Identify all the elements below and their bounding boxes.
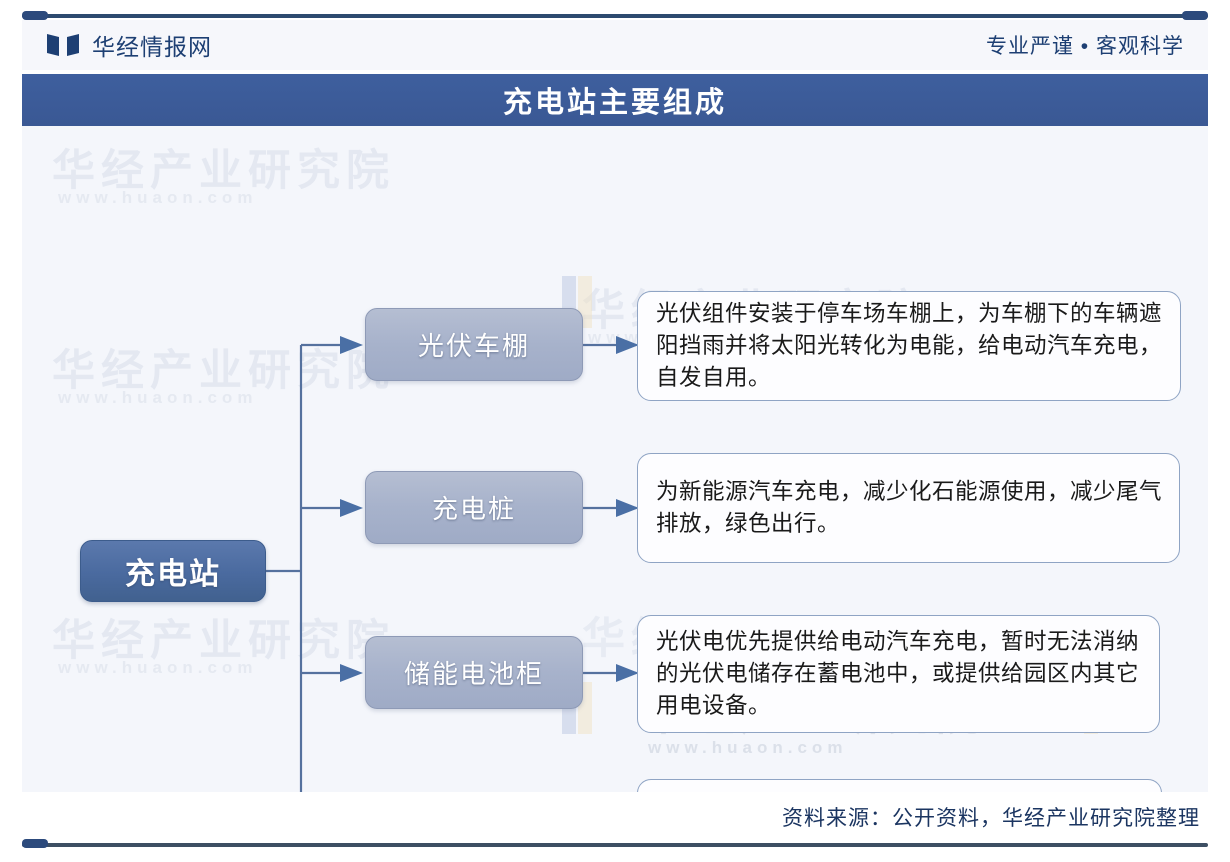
branch-node-3[interactable]: 储能电池柜 (365, 636, 583, 709)
source-note: 资料来源：公开资料，华经产业研究院整理 (782, 802, 1200, 832)
watermark-text: 华经产业研究院 (52, 606, 395, 668)
branch-description-4: 对车棚内停放车辆进行实时监控，保证车棚内车辆安全 (637, 779, 1162, 792)
branch-node-2[interactable]: 充电桩 (365, 471, 583, 544)
brand: 华经情报网 (46, 28, 212, 62)
page-header: 华经情报网 专业严谨 • 客观科学 (22, 20, 1208, 70)
watermark-url: www.huaon.com (58, 388, 257, 408)
branch-description-3: 光伏电优先提供给电动汽车充电，暂时无法消纳的光伏电储存在蓄电池中，或提供给园区内… (637, 615, 1160, 733)
branch-node-label: 储能电池柜 (404, 654, 544, 691)
branch-node-label: 充电桩 (432, 489, 516, 526)
header-slogan: 专业严谨 • 客观科学 (986, 30, 1184, 60)
top-divider-rule (22, 14, 1208, 18)
branch-description-text: 为新能源汽车充电，减少化石能源使用，减少尾气排放，绿色出行。 (656, 476, 1163, 540)
branch-description-1: 光伏组件安装于停车场车棚上，为车棚下的车辆遮阳挡雨并将太阳光转化为电能，给电动汽… (637, 291, 1181, 401)
root-node[interactable]: 充电站 (80, 540, 266, 602)
branch-node-1[interactable]: 光伏车棚 (365, 308, 583, 381)
branch-node-label: 光伏车棚 (418, 326, 530, 363)
diagram-canvas: 华经产业研究院 www.huaon.com 华经产业研究院 www.huaon.… (22, 126, 1208, 792)
watermark-url: www.huaon.com (58, 658, 257, 678)
watermark-url: www.huaon.com (648, 738, 847, 758)
watermark-text: 华经产业研究院 (52, 336, 395, 398)
watermark-url: www.huaon.com (58, 188, 257, 208)
bottom-left-rule-cap (22, 839, 48, 848)
page-title: 充电站主要组成 (503, 79, 727, 121)
brand-name: 华经情报网 (92, 28, 212, 62)
watermark-text: 华经产业研究院 (52, 136, 395, 198)
branch-description-2: 为新能源汽车充电，减少化石能源使用，减少尾气排放，绿色出行。 (637, 453, 1180, 563)
top-right-rule-cap (1182, 11, 1208, 20)
infographic-page: 华经情报网 专业严谨 • 客观科学 充电站主要组成 华经产业研究院 www.hu… (0, 0, 1230, 862)
title-band: 充电站主要组成 (22, 74, 1208, 126)
branch-description-text: 光伏电优先提供给电动汽车充电，暂时无法消纳的光伏电储存在蓄电池中，或提供给园区内… (656, 626, 1143, 722)
root-node-label: 充电站 (125, 549, 221, 593)
book-logo-icon (46, 32, 80, 58)
branch-description-text: 光伏组件安装于停车场车棚上，为车棚下的车辆遮阳挡雨并将太阳光转化为电能，给电动汽… (656, 298, 1164, 394)
top-left-rule-cap (22, 11, 48, 20)
bottom-divider-rule (22, 843, 1208, 847)
